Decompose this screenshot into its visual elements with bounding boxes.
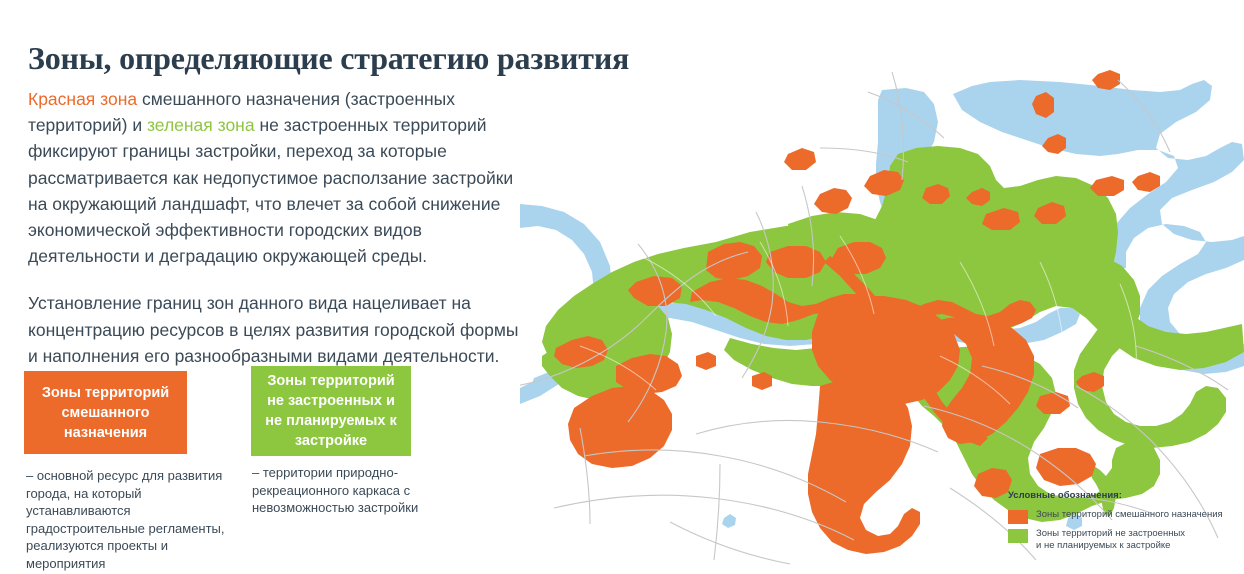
legend-label-mixed-line1: Зоны территорий смешанного назначения — [1036, 509, 1244, 522]
slide-root: Зоны, определяющие стратегию развития Кр… — [0, 0, 1244, 574]
legend-swatch-green — [1008, 529, 1028, 543]
map-legend-title: Условные обозначения: — [1008, 490, 1244, 503]
accent-green-zone: зеленая зона — [147, 115, 255, 135]
legend-row-mixed: Зоны территорий смешанного назначения — [1008, 509, 1244, 524]
text-column: Красная зона смешанного назначения (заст… — [28, 86, 528, 369]
legend-swatch-mixed — [1008, 510, 1028, 524]
zone-card-green-label: Зоны территорий не застроенных и не план… — [259, 371, 403, 451]
paragraph-1: Красная зона смешанного назначения (заст… — [28, 86, 528, 269]
paragraph-2: Установление границ зон данного вида нац… — [28, 290, 528, 369]
legend-row-green: Зоны территорий не застроенных и не план… — [1008, 528, 1244, 553]
zone-description-mixed: – основной ресурс для развития города, н… — [26, 467, 241, 572]
map-legend: Условные обозначения: Зоны территорий см… — [1008, 490, 1244, 557]
zone-description-green: – территории природно-рекреационного кар… — [252, 464, 442, 517]
legend-label-green: Зоны территорий не застроенных и не план… — [1036, 528, 1244, 553]
legend-label-green-line2: и не планируемых к застройке — [1036, 540, 1244, 553]
accent-red-zone: Красная зона — [28, 89, 137, 109]
legend-label-mixed: Зоны территорий смешанного назначения — [1036, 509, 1244, 522]
paragraph-1-rest: не застроенных территорий фиксируют гран… — [28, 115, 513, 266]
zone-card-green: Зоны территорий не застроенных и не план… — [251, 366, 411, 456]
legend-label-green-line1: Зоны территорий не застроенных — [1036, 528, 1244, 541]
zone-card-mixed-label: Зоны территорий смешанного назначения — [32, 383, 179, 443]
zone-card-mixed: Зоны территорий смешанного назначения — [24, 371, 187, 454]
